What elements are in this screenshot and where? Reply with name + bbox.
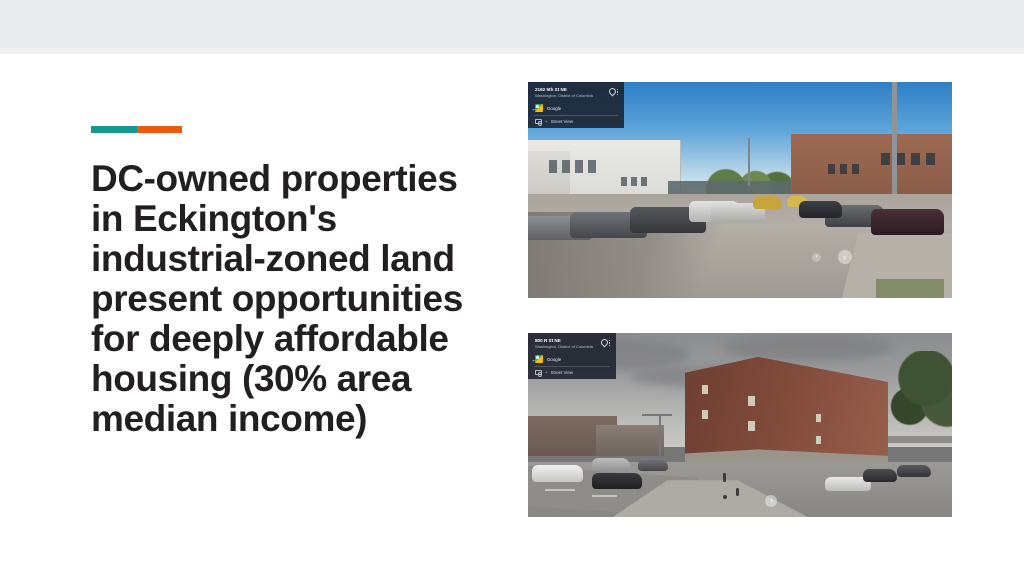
window-row <box>621 177 647 186</box>
slide-canvas: DC-owned properties in Eckington's indus… <box>0 0 1024 576</box>
page-title: DC-owned properties in Eckington's indus… <box>91 159 471 439</box>
street-view-label: Street View <box>551 370 573 375</box>
parked-car <box>592 458 630 471</box>
dog <box>723 495 727 499</box>
cloud <box>723 335 893 361</box>
parked-car <box>532 465 583 482</box>
accent-segment-teal <box>91 126 137 133</box>
street-view-actions <box>609 87 618 95</box>
google-brand-row[interactable]: Google <box>528 353 616 366</box>
street-view-header: 2162 5th St NE Washington, District of C… <box>528 82 624 102</box>
pedestrian <box>736 488 739 496</box>
street-view-camera-icon <box>535 119 542 124</box>
parked-car <box>799 201 841 218</box>
banner-underline <box>0 48 1024 54</box>
street-city: Washington, District of Columbia <box>535 344 601 350</box>
window-row <box>828 164 859 174</box>
accent-segment-orange <box>137 126 182 133</box>
curb-grass <box>876 279 944 298</box>
back-arrow-icon[interactable]: ← <box>531 357 538 364</box>
google-brand-row[interactable]: Google <box>528 102 624 115</box>
street-view-footer[interactable]: + Street View <box>528 367 616 379</box>
street-view-back-arrow[interactable]: ‹ <box>812 253 821 262</box>
location-pin-icon[interactable] <box>609 88 614 95</box>
lane-marking <box>545 489 575 491</box>
parked-truck-yellow <box>753 196 783 209</box>
rowhouses-left-secondary <box>596 425 664 456</box>
window-row <box>881 153 935 165</box>
plus-label: + <box>545 370 548 375</box>
google-brand-label: Google <box>547 357 561 362</box>
google-brand-label: Google <box>547 106 561 111</box>
street-view-titles: 800 R St NE Washington, District of Colu… <box>535 338 601 350</box>
street-city: Washington, District of Columbia <box>535 93 609 99</box>
parked-car <box>638 460 668 471</box>
street-view-header: 800 R St NE Washington, District of Colu… <box>528 333 616 353</box>
parked-car <box>897 465 931 476</box>
parked-car <box>871 209 943 235</box>
street-view-info-card: 800 R St NE Washington, District of Colu… <box>528 333 616 379</box>
back-arrow-icon[interactable]: ← <box>531 106 538 113</box>
street-view-image-bottom: › 800 R St NE Washington, District of Co… <box>528 333 952 517</box>
street-view-forward-arrow[interactable]: › <box>838 250 852 264</box>
utility-pole-thin <box>748 138 750 186</box>
street-view-titles: 2162 5th St NE Washington, District of C… <box>535 87 609 99</box>
street-view-label: Street View <box>551 119 573 124</box>
location-pin-icon[interactable] <box>601 339 606 346</box>
plus-label: + <box>545 119 548 124</box>
top-banner <box>0 0 1024 48</box>
window-row <box>549 160 596 173</box>
street-view-camera-icon <box>535 370 542 375</box>
lane-marking <box>592 495 617 497</box>
street-view-info-card: 2162 5th St NE Washington, District of C… <box>528 82 624 128</box>
accent-bar <box>91 126 182 133</box>
text-column: DC-owned properties in Eckington's indus… <box>91 126 471 439</box>
street-view-actions <box>601 338 610 346</box>
street-view-image-top: › ‹ 2162 5th St NE Washington, District … <box>528 82 952 298</box>
streetlight-arm <box>642 414 672 416</box>
parked-car <box>592 473 643 490</box>
kebab-menu-icon[interactable] <box>617 88 618 95</box>
street-view-footer[interactable]: + Street View <box>528 116 624 128</box>
parked-car <box>863 469 897 482</box>
pedestrian <box>723 473 726 482</box>
kebab-menu-icon[interactable] <box>609 339 610 346</box>
